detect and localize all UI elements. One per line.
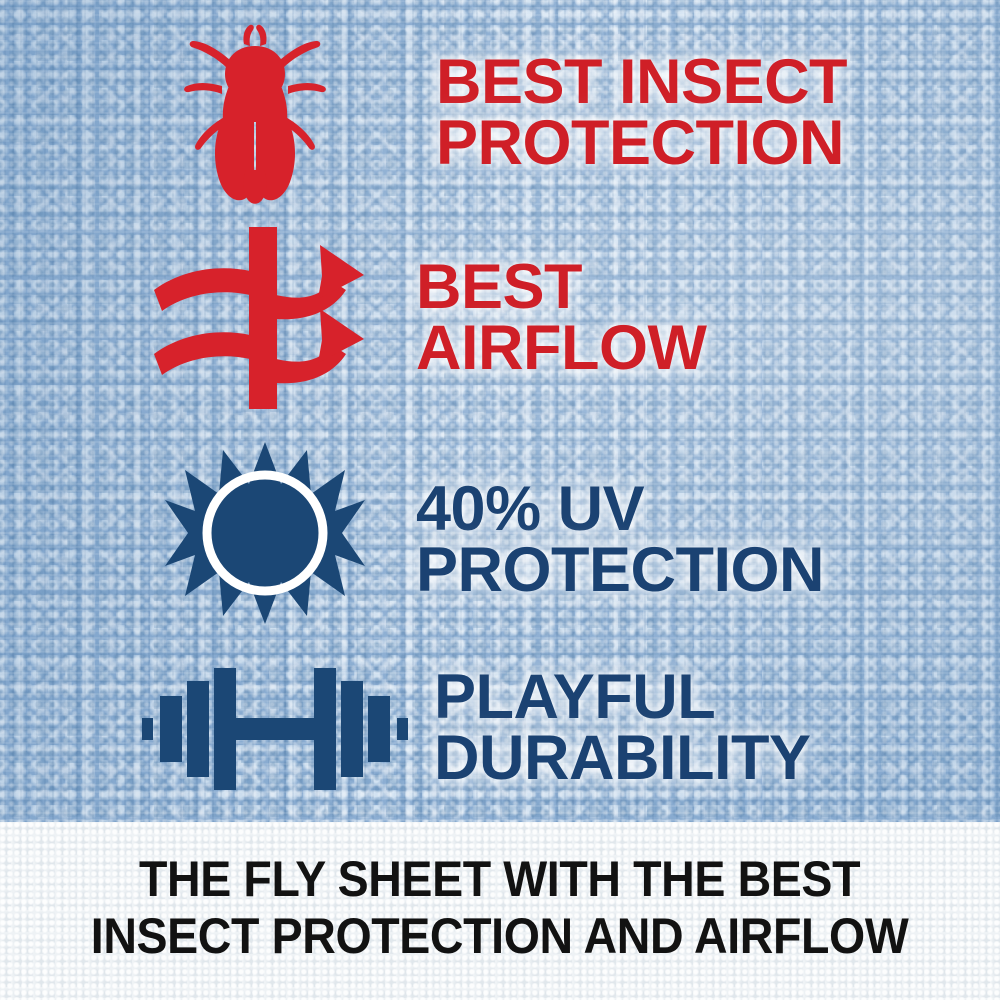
feature-label-airflow: BEST AIRFLOW	[416, 257, 706, 379]
fly-icon-container	[170, 20, 340, 206]
caption-text: THE FLY SHEET WITH THE BEST INSECT PROTE…	[82, 851, 918, 971]
feature-row-durability: PLAYFUL DURABILITY	[130, 648, 990, 808]
feature-row-uv-protection: 40% UV PROTECTION	[150, 440, 990, 640]
dumbbell-icon	[130, 648, 420, 808]
airflow-icon-container	[150, 223, 380, 413]
infographic-canvas: BEST INSECT PROTECTION	[0, 0, 1000, 1000]
sun-icon-container	[150, 440, 380, 640]
feature-label-insect-protection: BEST INSECT PROTECTION	[436, 52, 847, 174]
dumbbell-icon-container	[130, 648, 420, 808]
fly-icon	[170, 20, 340, 206]
airflow-through-mesh-icon	[150, 223, 380, 413]
feature-row-airflow: BEST AIRFLOW	[150, 222, 990, 414]
feature-row-insect-protection: BEST INSECT PROTECTION	[170, 18, 990, 208]
feature-label-durability: PLAYFUL DURABILITY	[434, 667, 810, 789]
sun-uv-icon	[150, 440, 380, 640]
caption-banner: THE FLY SHEET WITH THE BEST INSECT PROTE…	[0, 822, 1000, 1000]
feature-label-uv-protection: 40% UV PROTECTION	[416, 479, 824, 601]
